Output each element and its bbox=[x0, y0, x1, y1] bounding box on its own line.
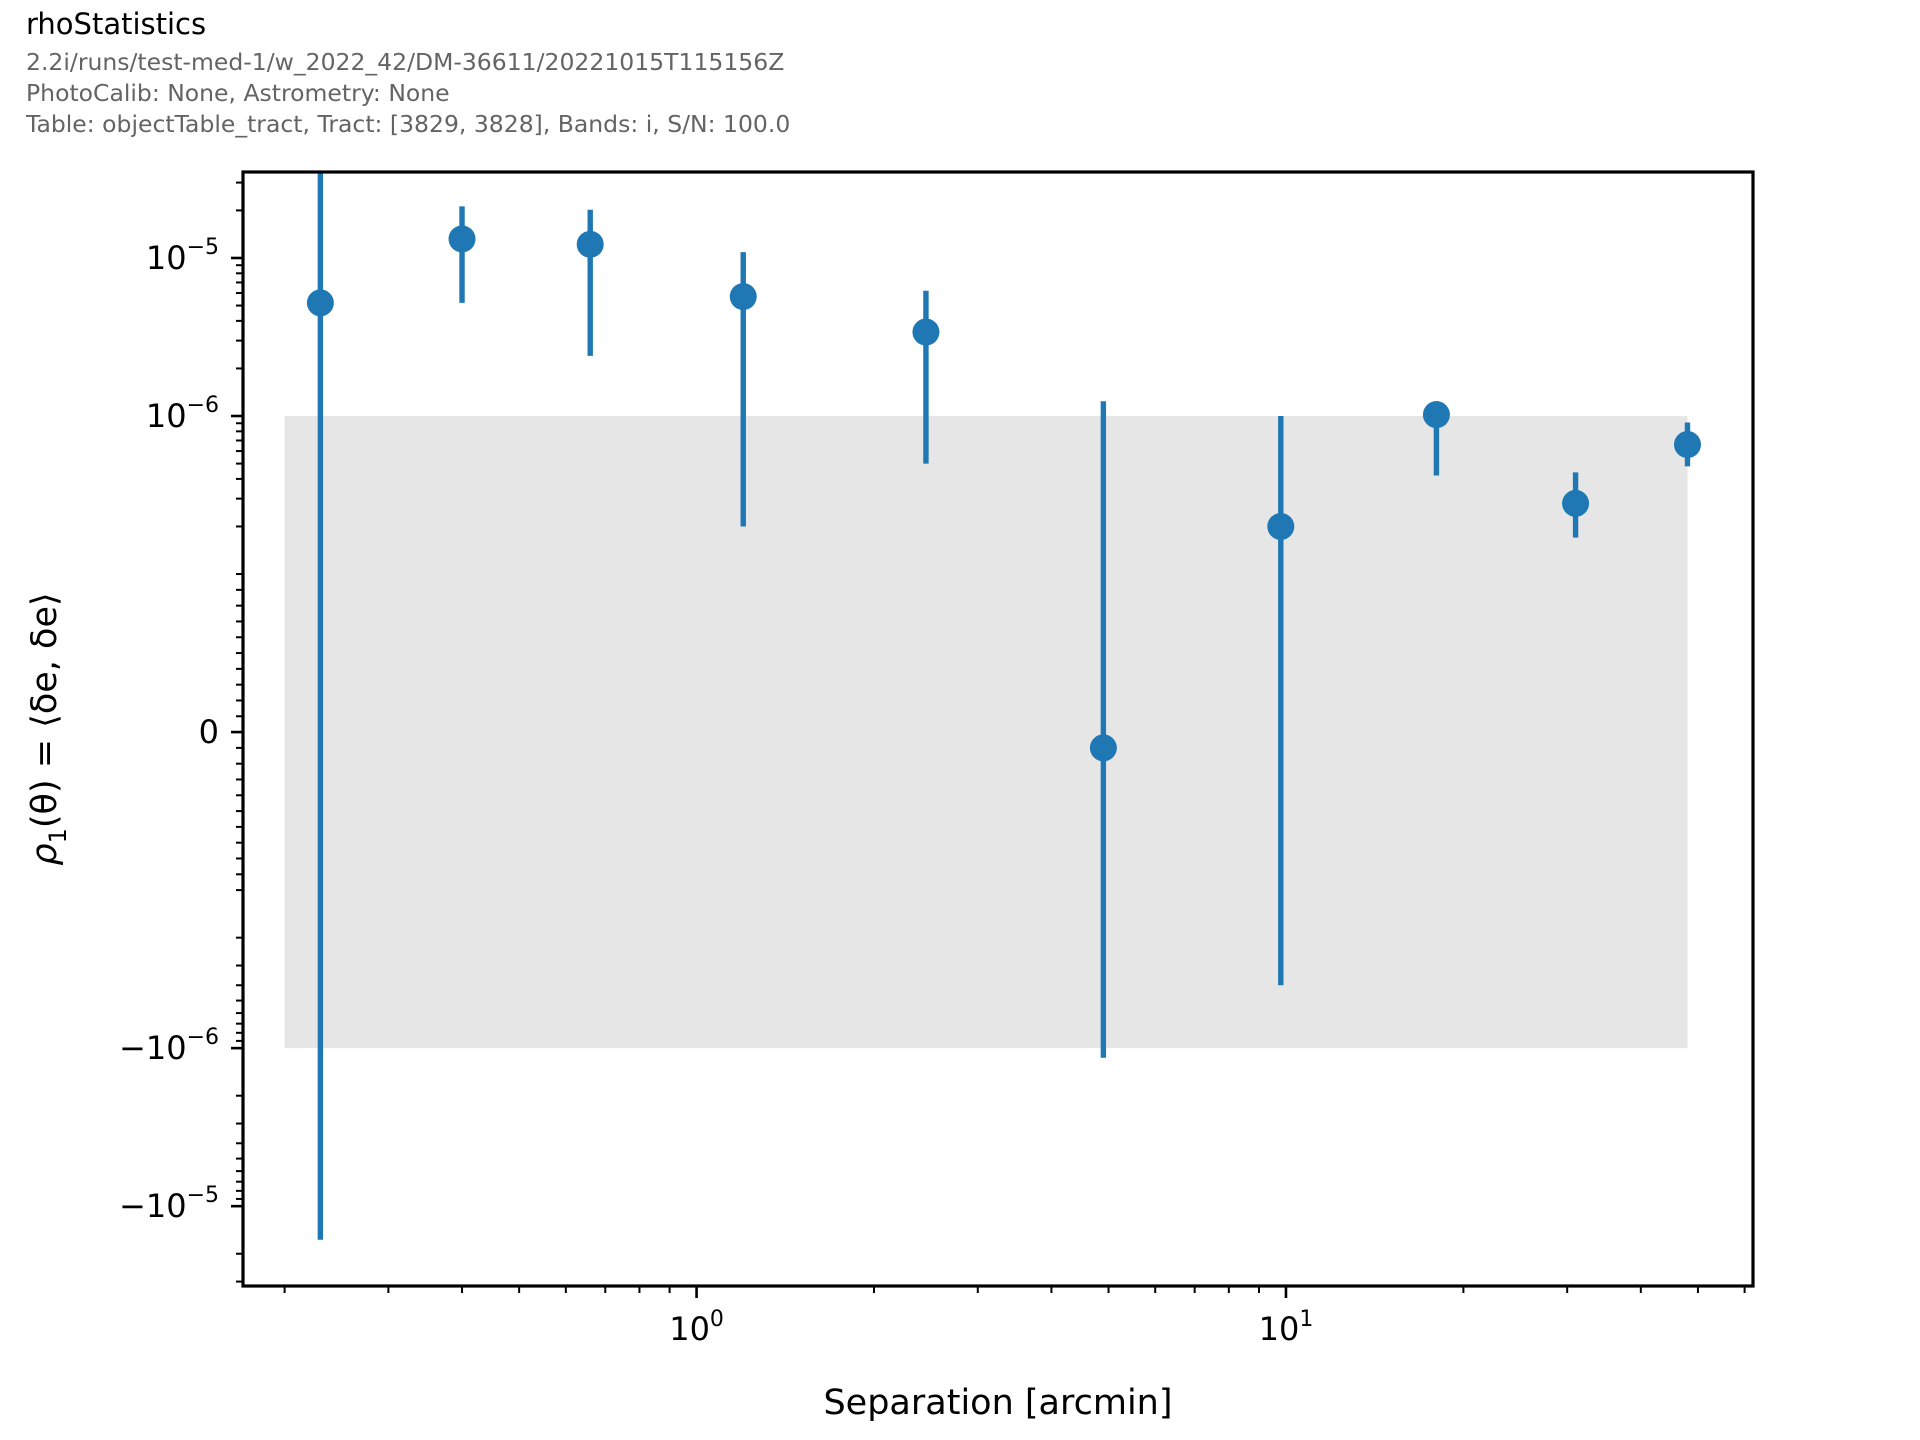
y-tick-label: −10−5 bbox=[119, 1183, 219, 1225]
figure-canvas: rhoStatistics 2.2i/runs/test-med-1/w_202… bbox=[0, 0, 1920, 1440]
y-tick-label: −10−6 bbox=[119, 1025, 219, 1067]
x-axis-title: Separation [arcmin] bbox=[823, 1383, 1172, 1423]
data-point-marker bbox=[449, 225, 476, 252]
data-point-marker bbox=[1267, 513, 1294, 540]
rho-statistics-chart: 10010110−510−60−10−6−10−5 Separation [ar… bbox=[0, 0, 1920, 1440]
x-tick-label: 101 bbox=[1259, 1307, 1314, 1348]
data-point-marker bbox=[730, 283, 757, 310]
y-tick-label: 10−6 bbox=[146, 393, 219, 435]
shaded-reference-band bbox=[285, 416, 1688, 1048]
band-rect bbox=[285, 416, 1688, 1048]
data-point-marker bbox=[577, 231, 604, 258]
x-tick-label: 100 bbox=[669, 1307, 724, 1348]
y-tick-label: 0 bbox=[199, 713, 219, 751]
y-tick-label: 10−5 bbox=[146, 235, 219, 277]
data-point-marker bbox=[1090, 734, 1117, 761]
y-axis-title: ρ1(θ) = ⟨δe, δe⟩ bbox=[25, 592, 72, 865]
data-point-marker bbox=[1674, 431, 1701, 458]
data-point-marker bbox=[307, 289, 334, 316]
data-point-marker bbox=[1423, 401, 1450, 428]
data-point-marker bbox=[912, 319, 939, 346]
data-point-marker bbox=[1562, 490, 1589, 517]
